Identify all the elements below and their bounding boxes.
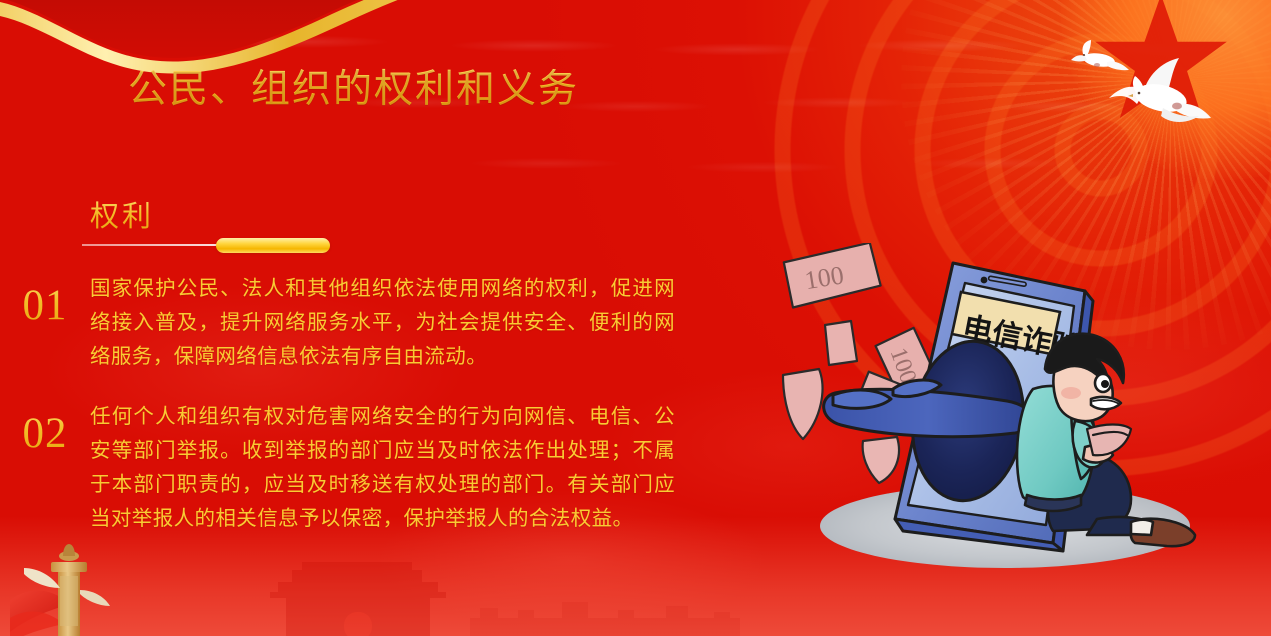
rights-list: 01 国家保护公民、法人和其他组织依法使用网络的权利，促进网络接入普及，提升网络…: [0, 272, 760, 562]
section-heading: 权利: [90, 193, 154, 235]
underline-gold-pill: [216, 238, 330, 253]
great-wall-silhouette-decor: [470, 588, 740, 636]
list-item: 01 国家保护公民、法人和其他组织依法使用网络的权利，促进网络接入普及，提升网络…: [0, 272, 760, 374]
slide-canvas: 公民、组织的权利和义务 权利 01 国家保护公民、法人和其他组织依法使用网络的权…: [0, 0, 1271, 636]
person-sock: [1131, 520, 1153, 535]
list-item-text: 任何个人和组织有权对危害网络安全的行为向网信、电信、公安等部门举报。收到举报的部…: [90, 400, 675, 536]
held-money: [1087, 425, 1131, 456]
phone-camera: [981, 277, 988, 284]
tiananmen-silhouette-decor: [258, 556, 488, 636]
telecom-fraud-illustration: 100 100 100 电信诈骗: [775, 243, 1245, 573]
banknote-value: 100: [803, 260, 846, 295]
list-item-number: 01: [0, 272, 90, 327]
list-item-number: 02: [0, 400, 90, 455]
list-item-text: 国家保护公民、法人和其他组织依法使用网络的权利，促进网络接入普及，提升网络服务水…: [90, 272, 675, 374]
list-item: 02 任何个人和组织有权对危害网络安全的行为向网信、电信、公安等部门举报。收到举…: [0, 400, 760, 536]
person-blush: [1061, 387, 1081, 399]
dove-icon-small: [1069, 38, 1131, 80]
page-title: 公民、组织的权利和义务: [128, 58, 579, 114]
heading-underline: [82, 238, 332, 254]
